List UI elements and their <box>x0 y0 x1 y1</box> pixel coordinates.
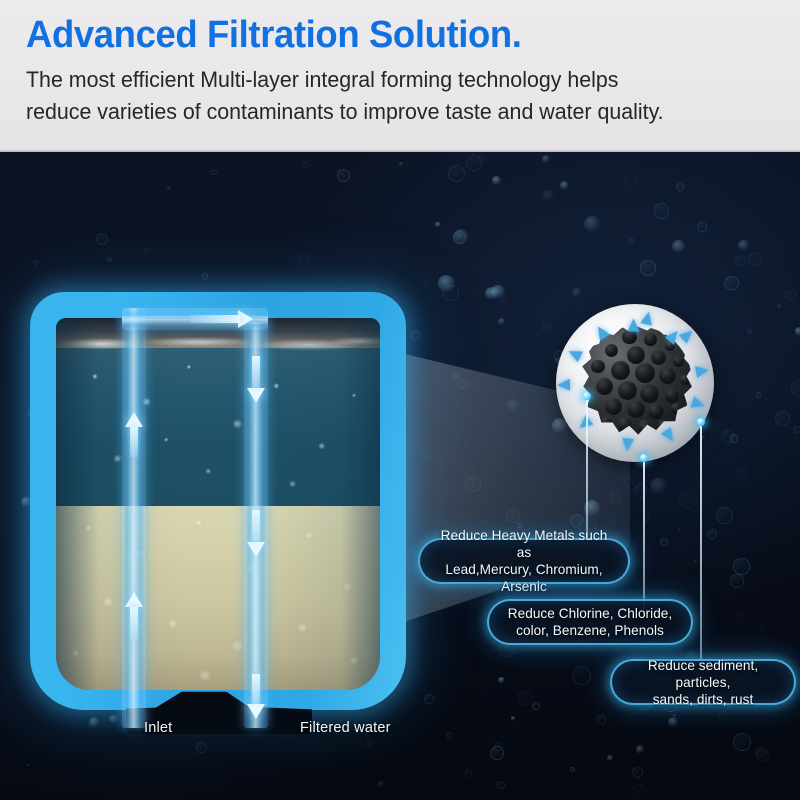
scene-background: Inlet Filtered water Reduce Heavy Metals… <box>0 152 800 800</box>
inlet-tube <box>122 308 146 728</box>
filter-cartridge <box>30 292 406 722</box>
connector-dot-heavy-metals <box>583 392 591 400</box>
carbon-pore <box>638 420 651 433</box>
callout-chlorine-line-2: color, Benzene, Phenols <box>508 622 673 639</box>
flow-arrow-down-mid <box>247 542 265 557</box>
page-subtitle: The most efficient Multi-layer integral … <box>26 64 740 128</box>
carbon-pore <box>648 403 664 419</box>
callout-sediment[interactable]: Reduce sediment, particles, sands, dirts… <box>610 659 796 705</box>
flow-arrow-right <box>238 310 253 328</box>
carbon-pore <box>640 384 659 403</box>
carbon-pore <box>673 356 684 367</box>
cavity-shading <box>56 318 380 690</box>
callout-heavy-metals[interactable]: Reduce Heavy Metals such as Lead,Mercury… <box>418 538 630 584</box>
flow-arrow-down-lower <box>247 704 265 719</box>
inflow-arrow <box>620 438 633 452</box>
carbon-pore <box>651 350 667 366</box>
flow-arrow-tail-cross <box>190 315 240 323</box>
header-band: Advanced Filtration Solution. The most e… <box>0 0 800 152</box>
cartridge-cavity <box>56 318 380 690</box>
carbon-pore <box>671 403 682 414</box>
filtered-water-label: Filtered water <box>300 720 391 736</box>
flow-arrow-tail-lower <box>130 607 138 641</box>
carbon-pore <box>659 367 676 384</box>
infographic-poster: Advanced Filtration Solution. The most e… <box>0 0 800 800</box>
carbon-pore <box>618 417 633 432</box>
carbon-pore <box>605 344 618 357</box>
callout-chlorine-line-1: Reduce Chlorine, Chloride, <box>508 605 673 622</box>
flow-arrow-down-upper <box>247 388 265 403</box>
subtitle-line-2: reduce varieties of contaminants to impr… <box>26 96 740 128</box>
carbon-pore <box>665 388 680 403</box>
inflow-arrow <box>695 364 710 378</box>
flow-arrow-tail-down-lower <box>252 674 260 704</box>
leader-line-sediment <box>700 426 702 662</box>
subtitle-line-1: The most efficient Multi-layer integral … <box>26 67 618 92</box>
callout-sediment-line-2: sands, dirts, rust <box>628 691 778 708</box>
callout-heavy-metals-line-1: Reduce Heavy Metals such as <box>436 527 612 561</box>
page-title: Advanced Filtration Solution. <box>26 14 756 56</box>
carbon-pore <box>591 360 604 373</box>
carbon-pore <box>680 375 690 385</box>
carbon-pore <box>644 333 656 345</box>
callout-sediment-line-1: Reduce sediment, particles, <box>628 657 778 691</box>
flow-arrow-tail-down-mid <box>252 510 260 542</box>
carbon-pore <box>618 381 637 400</box>
carbon-pore <box>601 417 612 428</box>
inflow-arrow <box>628 319 640 332</box>
leader-line-heavy-metals <box>586 400 588 546</box>
flow-arrow-up-lower <box>125 592 143 607</box>
carbon-pore <box>627 346 645 364</box>
connector-dot-sediment <box>697 418 705 426</box>
carbon-pore <box>627 400 645 418</box>
flow-arrow-up-upper <box>125 412 143 427</box>
inflow-arrow <box>557 379 570 391</box>
carbon-pore <box>658 420 668 430</box>
carbon-pore <box>635 363 655 383</box>
inlet-label: Inlet <box>144 720 172 736</box>
carbon-pore <box>605 398 622 415</box>
callout-heavy-metals-line-2: Lead,Mercury, Chromium, Arsenic <box>436 561 612 595</box>
carbon-pore <box>596 378 613 395</box>
carbon-pore <box>611 361 630 380</box>
cartridge-shell <box>30 292 406 710</box>
connector-dot-chlorine <box>640 454 648 462</box>
flow-arrow-tail-down-upper <box>252 356 260 388</box>
carbon-pore <box>622 330 637 345</box>
leader-line-chlorine <box>643 462 645 610</box>
flow-arrow-tail-upper <box>130 427 138 457</box>
callout-chlorine[interactable]: Reduce Chlorine, Chloride, color, Benzen… <box>487 599 693 645</box>
